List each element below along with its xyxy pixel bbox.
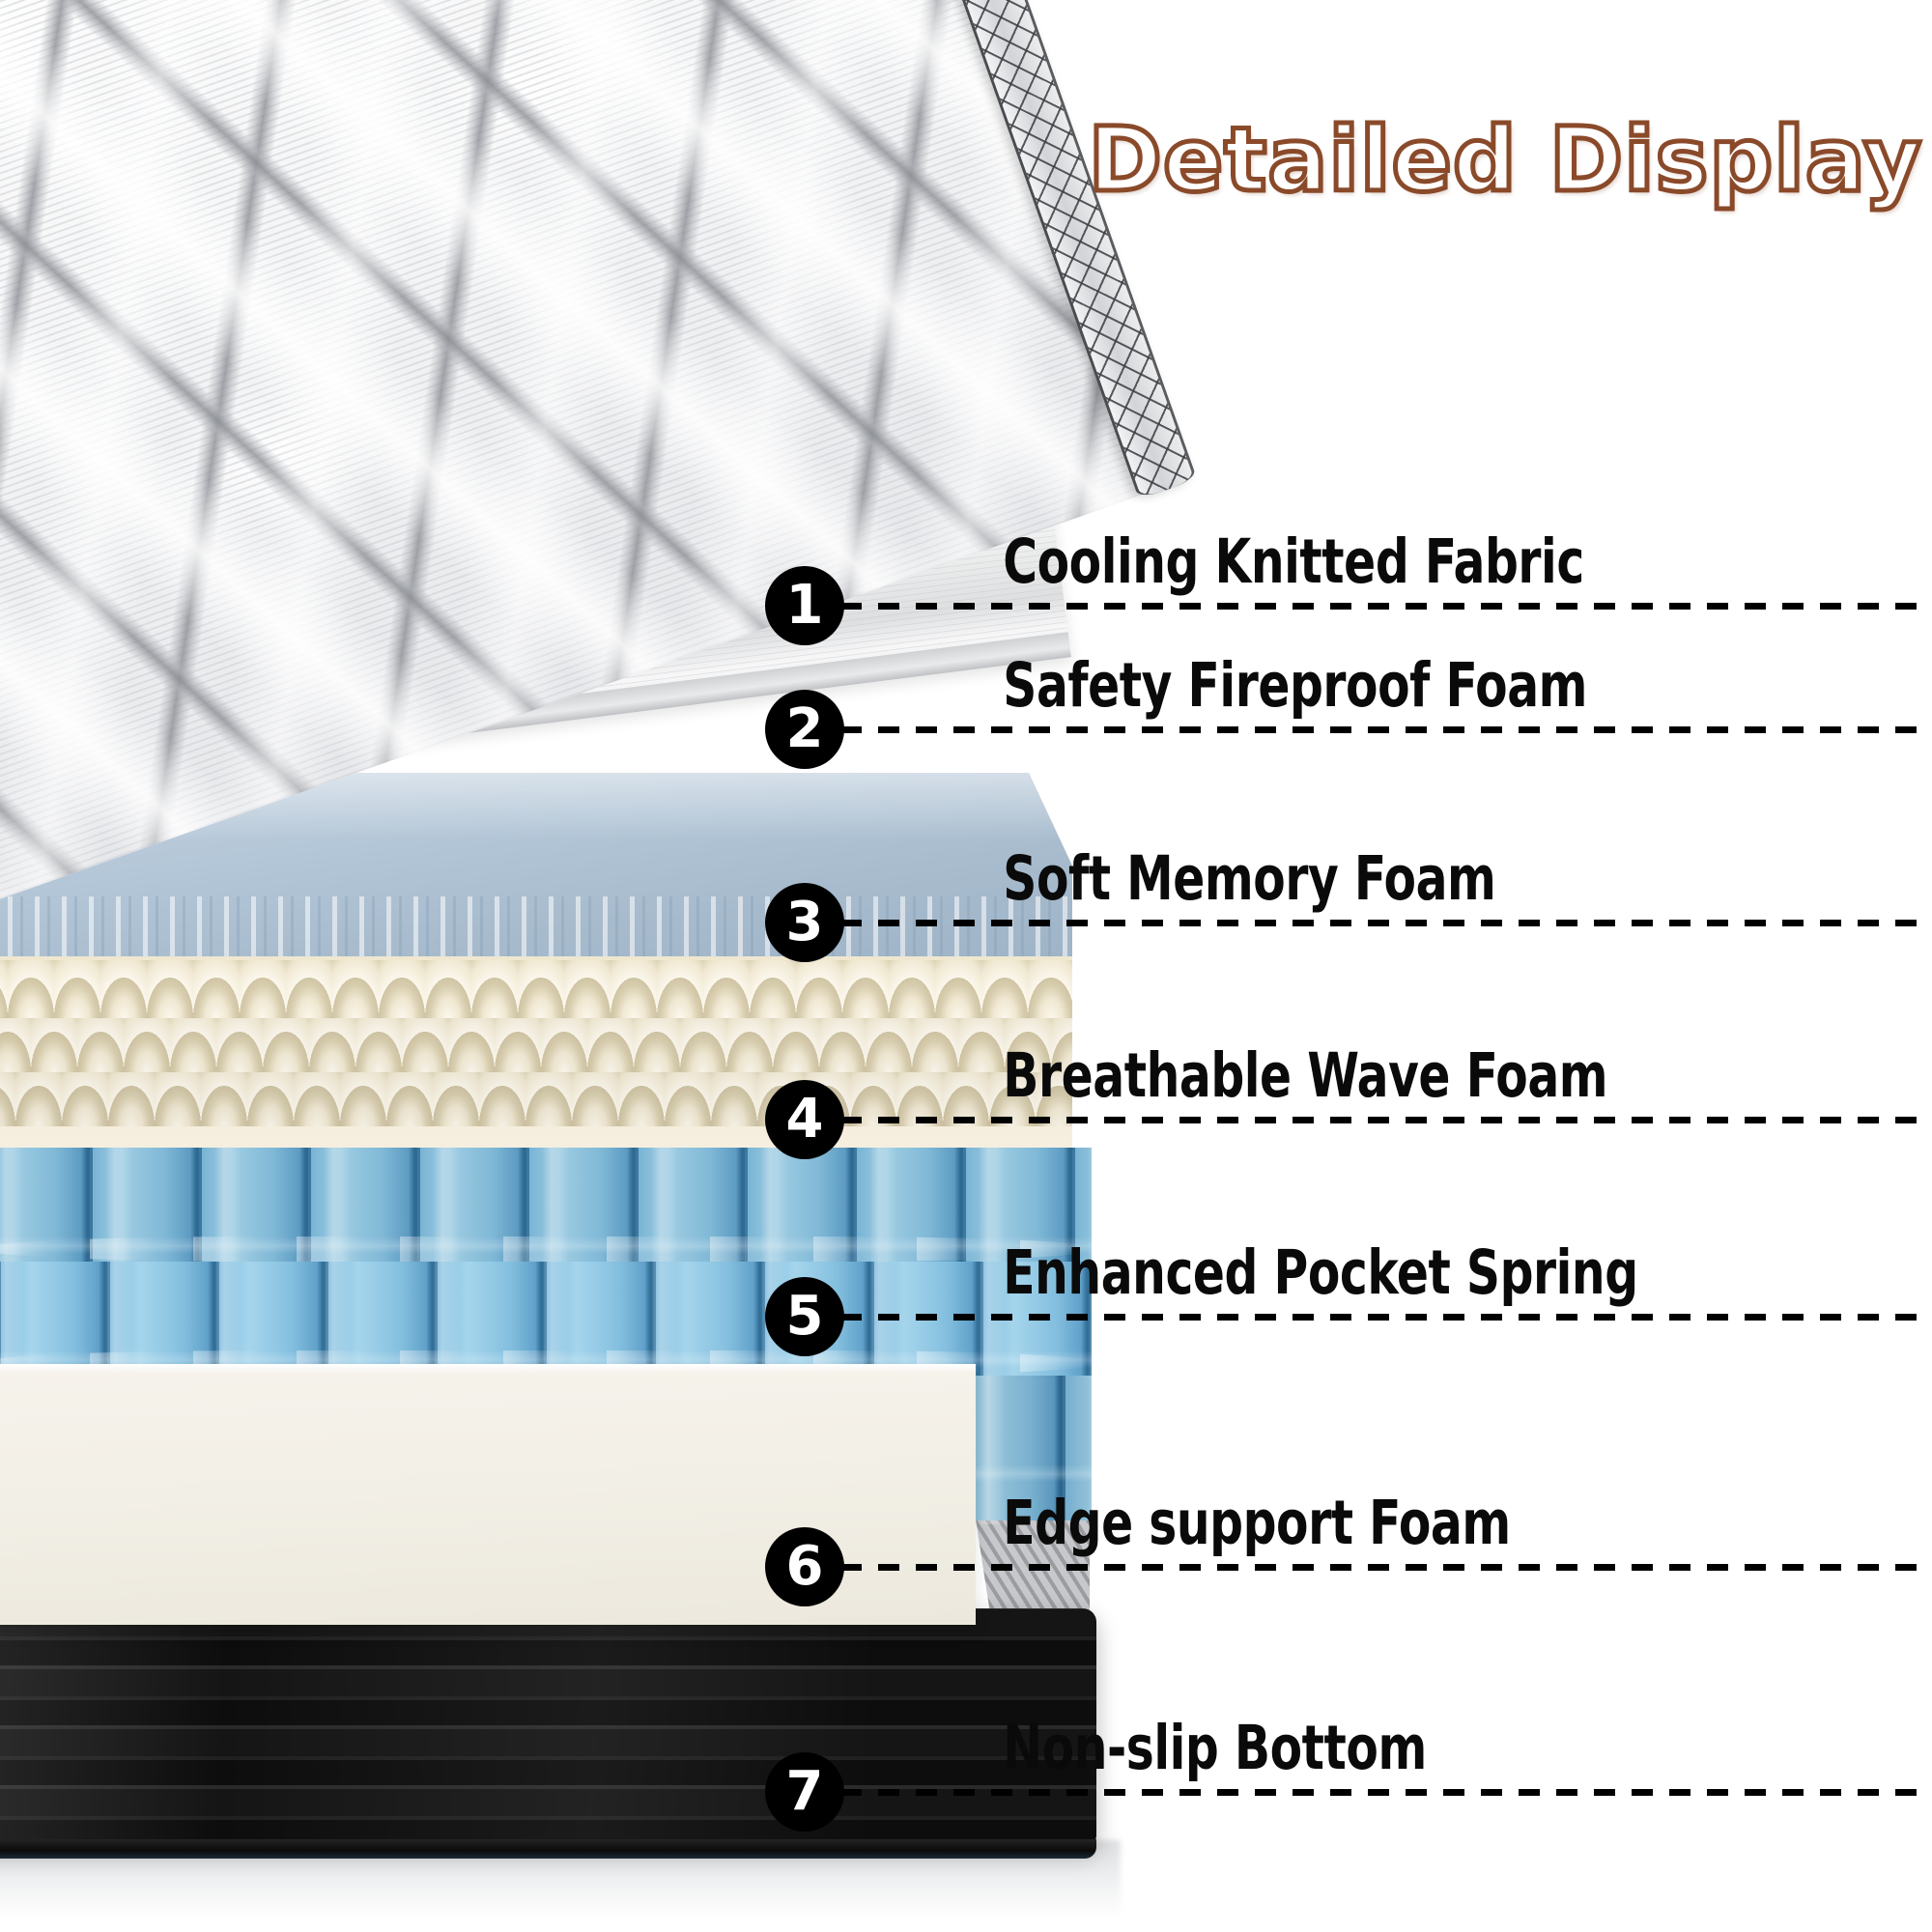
- callout-number-badge: 4: [765, 1080, 844, 1159]
- callout-label: Edge support Foam: [1003, 1492, 1932, 1553]
- callout-label: Non-slip Bottom: [1003, 1718, 1932, 1778]
- leader-line: [840, 1564, 1932, 1571]
- callout-label: Cooling Knitted Fabric: [1003, 531, 1932, 592]
- leader-line: [840, 1314, 1932, 1321]
- wave-foam-row: [0, 1014, 1072, 1072]
- edge-foam-highlight: [0, 1364, 976, 1374]
- spring-cap-row: [0, 1236, 1092, 1262]
- callout-label: Enhanced Pocket Spring: [1003, 1242, 1932, 1303]
- non-slip-sheen: [0, 1608, 1096, 1845]
- infographic-canvas: Detailed Display 1 Cooling Knitted Fabri…: [0, 0, 1932, 1932]
- wave-foam-row: [0, 960, 1072, 1018]
- leader-line: [840, 726, 1932, 733]
- leader-line: [840, 1789, 1932, 1796]
- callout-number-badge: 6: [765, 1527, 844, 1606]
- callout-label: Breathable Wave Foam: [1003, 1045, 1932, 1106]
- callout-number-badge: 1: [765, 566, 844, 645]
- layer-non-slip-bottom: [0, 1608, 1096, 1845]
- memory-foam-ribbing: [0, 896, 1072, 956]
- leader-line: [840, 603, 1932, 610]
- callout-number-badge: 7: [765, 1752, 844, 1832]
- callout-number-badge: 5: [765, 1277, 844, 1356]
- leader-line: [840, 1117, 1932, 1123]
- callout-number-badge: 3: [765, 883, 844, 962]
- non-slip-foot: [0, 1839, 1096, 1859]
- callout-number-badge: 2: [765, 690, 844, 769]
- callout-label: Safety Fireproof Foam: [1003, 655, 1932, 716]
- page-title: Detailed Display: [898, 116, 1922, 205]
- callout-label: Soft Memory Foam: [1003, 848, 1932, 909]
- leader-line: [840, 920, 1932, 926]
